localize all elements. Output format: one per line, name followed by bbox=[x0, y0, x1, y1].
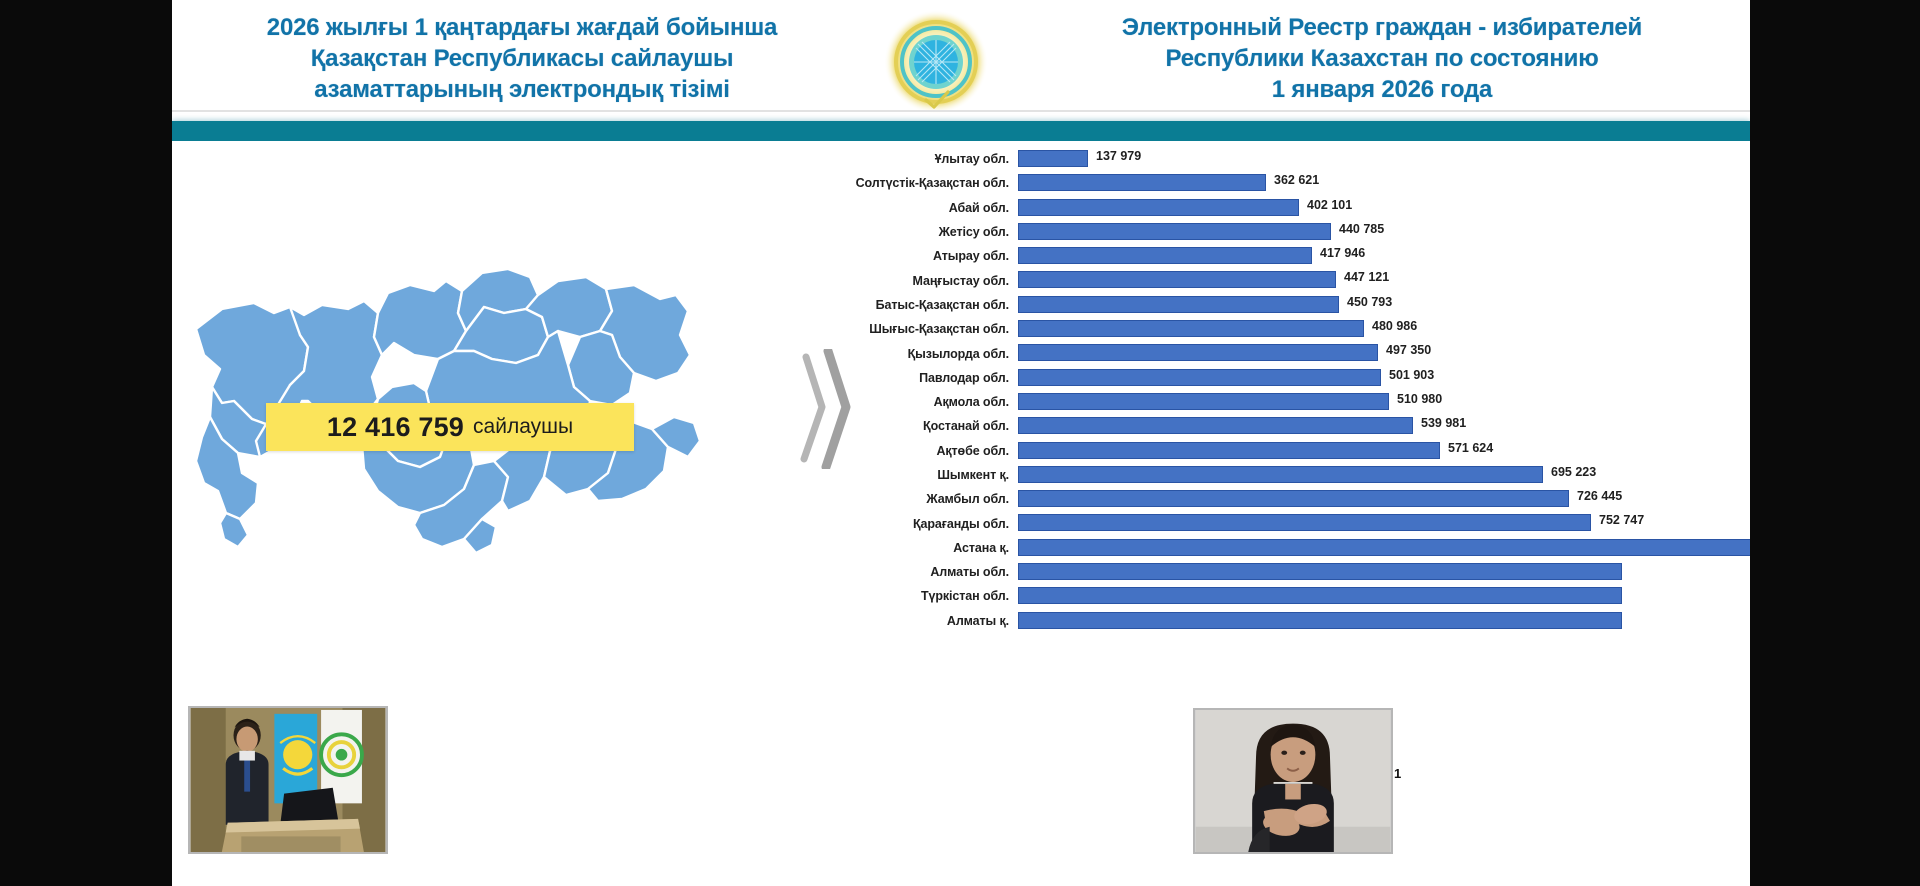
total-voters-unit: сайлаушы bbox=[473, 415, 573, 439]
page-number: 1 bbox=[1394, 766, 1401, 781]
total-voters-number: 12 416 759 bbox=[327, 412, 464, 443]
bar-row: Абай обл.402 101 bbox=[822, 196, 1742, 220]
sign-language-interpreter-video[interactable] bbox=[1193, 708, 1393, 854]
bar-row: Ақтөбе обл.571 624 bbox=[822, 439, 1742, 463]
bar-track: 447 121 bbox=[1018, 268, 1742, 292]
bar-value-label: 571 624 bbox=[1448, 441, 1493, 455]
bar-value-label: 362 621 bbox=[1274, 173, 1319, 187]
bar-track: 752 747 bbox=[1018, 511, 1742, 535]
video-player-frame: 2026 жылғы 1 қаңтардағы жағдай бойынша Қ… bbox=[0, 0, 1920, 886]
bar-row: Ұлытау обл.137 979 bbox=[822, 147, 1742, 171]
bar-category-label: Ақмола обл. bbox=[822, 395, 1018, 409]
header-title-kazakh-line-3: азаматтарының электрондық тізімі bbox=[202, 74, 842, 105]
bar-value-label: 417 946 bbox=[1320, 246, 1365, 260]
bar-track bbox=[1018, 560, 1742, 584]
bar-track: 695 223 bbox=[1018, 463, 1742, 487]
bar-row: Ақмола обл.510 980 bbox=[822, 390, 1742, 414]
bar bbox=[1018, 490, 1569, 507]
bar-value-label: 402 101 bbox=[1307, 198, 1352, 212]
voters-by-region-bar-chart: Ұлытау обл.137 979Солтүстік-Қазақстан об… bbox=[822, 147, 1742, 667]
kazakhstan-map: 12 416 759 сайлаушы bbox=[182, 251, 722, 611]
bar-value-label: 440 785 bbox=[1339, 222, 1384, 236]
bar bbox=[1018, 174, 1266, 191]
bar-value-label: 450 793 bbox=[1347, 295, 1392, 309]
bar-row: Маңғыстау обл.447 121 bbox=[822, 268, 1742, 292]
bar bbox=[1018, 247, 1312, 264]
bar-track: 440 785 bbox=[1018, 220, 1742, 244]
bar-value-label: 752 747 bbox=[1599, 513, 1644, 527]
bar-category-label: Атырау обл. bbox=[822, 249, 1018, 263]
bar bbox=[1018, 417, 1413, 434]
bar-track: 417 946 bbox=[1018, 244, 1742, 268]
bar bbox=[1018, 320, 1364, 337]
bar-row: Алматы қ. bbox=[822, 609, 1742, 633]
bar-category-label: Маңғыстау обл. bbox=[822, 274, 1018, 288]
bar-track bbox=[1018, 609, 1742, 633]
bar-track: 726 445 bbox=[1018, 487, 1742, 511]
bar bbox=[1018, 296, 1339, 313]
bar bbox=[1018, 442, 1440, 459]
header-title-russian-line-1: Электронный Реестр граждан - избирателей bbox=[1052, 12, 1712, 43]
bar-row: Қарағанды обл.752 747 bbox=[822, 511, 1742, 535]
bar-category-label: Ақтөбе обл. bbox=[822, 444, 1018, 458]
bar-value-label: 726 445 bbox=[1577, 489, 1622, 503]
bar-track: 501 903 bbox=[1018, 366, 1742, 390]
header-title-kazakh: 2026 жылғы 1 қаңтардағы жағдай бойынша Қ… bbox=[202, 12, 842, 106]
header-title-kazakh-line-2: Қазақстан Республикасы сайлаушы bbox=[202, 43, 842, 74]
bar bbox=[1018, 466, 1543, 483]
bar-category-label: Шығыс-Қазақстан обл. bbox=[822, 322, 1018, 336]
bar-category-label: Ұлытау обл. bbox=[822, 152, 1018, 166]
bar-value-label: 447 121 bbox=[1344, 270, 1389, 284]
bar-row: Алматы обл. bbox=[822, 560, 1742, 584]
bar-track: 450 793 bbox=[1018, 293, 1742, 317]
accent-band bbox=[172, 121, 1750, 141]
bar-row: Солтүстік-Қазақстан обл.362 621 bbox=[822, 171, 1742, 195]
header-divider bbox=[172, 110, 1750, 112]
bar bbox=[1018, 587, 1622, 604]
bar bbox=[1018, 563, 1622, 580]
bar-track: 402 101 bbox=[1018, 196, 1742, 220]
bar bbox=[1018, 612, 1622, 629]
bar-value-label: 480 986 bbox=[1372, 319, 1417, 333]
bar-track: 966 908 bbox=[1018, 536, 1742, 560]
bar-category-label: Павлодар обл. bbox=[822, 371, 1018, 385]
bar bbox=[1018, 344, 1378, 361]
bar-row: Жамбыл обл.726 445 bbox=[822, 487, 1742, 511]
bar bbox=[1018, 271, 1336, 288]
bar-track: 480 986 bbox=[1018, 317, 1742, 341]
bar-category-label: Жетісу обл. bbox=[822, 225, 1018, 239]
bar-row: Қостанай обл.539 981 bbox=[822, 414, 1742, 438]
total-voters-callout: 12 416 759 сайлаушы bbox=[266, 403, 634, 451]
bar-value-label: 539 981 bbox=[1421, 416, 1466, 430]
bar-value-label: 501 903 bbox=[1389, 368, 1434, 382]
slide-header: 2026 жылғы 1 қаңтардағы жағдай бойынша Қ… bbox=[172, 0, 1750, 126]
speaker-podium-video[interactable] bbox=[188, 706, 388, 854]
bar-row: Түркістан обл. bbox=[822, 584, 1742, 608]
bar bbox=[1018, 539, 1750, 556]
bar-row: Шығыс-Қазақстан обл.480 986 bbox=[822, 317, 1742, 341]
bar-category-label: Қарағанды обл. bbox=[822, 517, 1018, 531]
bar bbox=[1018, 393, 1389, 410]
bar-category-label: Шымкент қ. bbox=[822, 468, 1018, 482]
bar-category-label: Алматы обл. bbox=[822, 565, 1018, 579]
bar bbox=[1018, 223, 1331, 240]
bar-row: Атырау обл.417 946 bbox=[822, 244, 1742, 268]
kazakhstan-cec-emblem-icon bbox=[882, 8, 990, 116]
header-title-russian-line-2: Республики Казахстан по состоянию bbox=[1052, 43, 1712, 74]
bar-category-label: Солтүстік-Қазақстан обл. bbox=[822, 176, 1018, 190]
bar-row: Астана қ.966 908 bbox=[822, 536, 1742, 560]
bar-track: 497 350 bbox=[1018, 341, 1742, 365]
bar bbox=[1018, 369, 1381, 386]
header-title-russian: Электронный Реестр граждан - избирателей… bbox=[1052, 12, 1712, 106]
bar-category-label: Абай обл. bbox=[822, 201, 1018, 215]
bar bbox=[1018, 199, 1299, 216]
bar bbox=[1018, 150, 1088, 167]
bar-track: 137 979 bbox=[1018, 147, 1742, 171]
bar-track: 571 624 bbox=[1018, 439, 1742, 463]
bar-value-label: 137 979 bbox=[1096, 149, 1141, 163]
slide-body: 12 416 759 сайлаушы Ұлытау обл.137 979Со… bbox=[172, 141, 1750, 886]
bar-row: Павлодар обл.501 903 bbox=[822, 366, 1742, 390]
bar-category-label: Астана қ. bbox=[822, 541, 1018, 555]
header-title-russian-line-3: 1 января 2026 года bbox=[1052, 74, 1712, 105]
bar-track: 362 621 bbox=[1018, 171, 1742, 195]
bar-category-label: Қызылорда обл. bbox=[822, 347, 1018, 361]
bar-category-label: Қостанай обл. bbox=[822, 419, 1018, 433]
bar-row: Қызылорда обл.497 350 bbox=[822, 341, 1742, 365]
bar-track bbox=[1018, 584, 1742, 608]
presentation-slide: 2026 жылғы 1 қаңтардағы жағдай бойынша Қ… bbox=[172, 0, 1750, 886]
bar-track: 510 980 bbox=[1018, 390, 1742, 414]
bar-category-label: Жамбыл обл. bbox=[822, 492, 1018, 506]
bar-row: Шымкент қ.695 223 bbox=[822, 463, 1742, 487]
bar-value-label: 510 980 bbox=[1397, 392, 1442, 406]
bar-row: Батыс-Қазақстан обл.450 793 bbox=[822, 293, 1742, 317]
bar-track: 539 981 bbox=[1018, 414, 1742, 438]
bar bbox=[1018, 514, 1591, 531]
bar-category-label: Түркістан обл. bbox=[822, 589, 1018, 603]
bar-row: Жетісу обл.440 785 bbox=[822, 220, 1742, 244]
bar-value-label: 695 223 bbox=[1551, 465, 1596, 479]
bar-category-label: Алматы қ. bbox=[822, 614, 1018, 628]
bar-value-label: 497 350 bbox=[1386, 343, 1431, 357]
bar-category-label: Батыс-Қазақстан обл. bbox=[822, 298, 1018, 312]
header-title-kazakh-line-1: 2026 жылғы 1 қаңтардағы жағдай бойынша bbox=[202, 12, 842, 43]
